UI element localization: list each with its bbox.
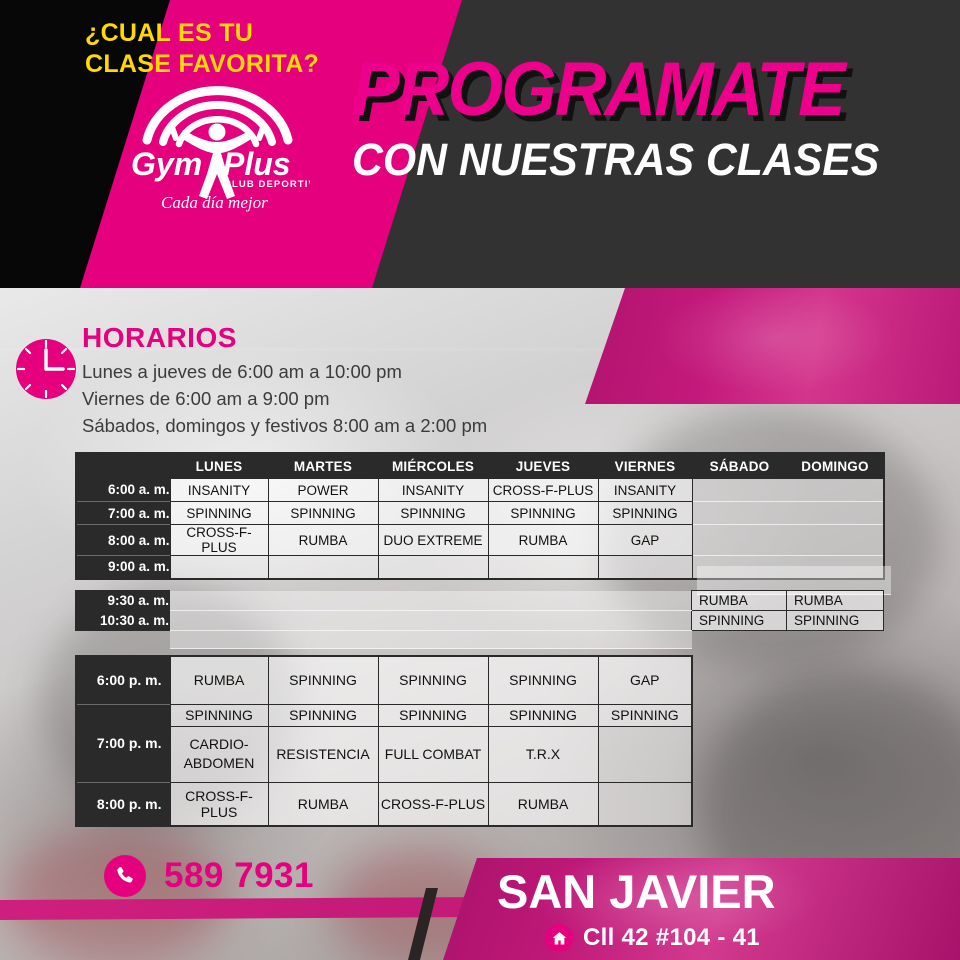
class-cell: RESISTENCIA [268, 726, 378, 782]
time-label: 8:00 a. m. [76, 525, 170, 556]
table-header-row: LUNES MARTES MIÉRCOLES JUEVES VIERNES SÁ… [76, 453, 884, 479]
class-cell: SPINNING [787, 611, 884, 631]
phone-icon [104, 855, 146, 897]
class-cell: POWER [268, 479, 378, 502]
class-cell-empty [598, 631, 692, 649]
class-cell [268, 556, 378, 579]
header-cell-miercoles: MIÉRCOLES [378, 453, 488, 479]
class-cell-empty [268, 591, 378, 611]
header-cell-time [76, 453, 170, 479]
class-cell: RUMBA [488, 782, 598, 826]
time-label: 6:00 p. m. [76, 656, 170, 704]
class-cell: FULL COMBAT [378, 726, 488, 782]
class-cell: RUMBA [170, 656, 268, 704]
horarios-line-2: Viernes de 6:00 am a 9:00 pm [82, 385, 602, 412]
favorite-class-banner [575, 288, 960, 404]
class-cell-empty [170, 631, 268, 649]
header-title-block: PROGRAMATE CON NUESTRAS CLASES [352, 55, 912, 182]
class-cell-empty [488, 611, 598, 631]
table-row: 10:30 a. m. SPINNING SPINNING [76, 611, 884, 631]
schedule-section: LUNES MARTES MIÉRCOLES JUEVES VIERNES SÁ… [75, 452, 893, 580]
table-row: 6:00 a. m. INSANITY POWER INSANITY CROSS… [76, 479, 884, 502]
class-cell [598, 782, 692, 826]
spacer-cell [76, 631, 170, 649]
class-cell: DUO EXTREME [378, 525, 488, 556]
time-label: 8:00 p. m. [76, 782, 170, 826]
schedule-table-evening: 6:00 p. m. RUMBA SPINNING SPINNING SPINN… [75, 655, 693, 827]
page-title: PROGRAMATE [352, 55, 878, 125]
time-label: 10:30 a. m. [76, 611, 170, 631]
class-cell-empty [378, 591, 488, 611]
class-cell [488, 556, 598, 579]
spacer-cell [787, 631, 884, 649]
time-label: 7:00 p. m. [76, 704, 170, 782]
svg-text:Gym: Gym [131, 146, 202, 182]
class-cell-empty [692, 525, 787, 556]
class-cell-empty [692, 502, 787, 525]
class-cell: CROSS-F-PLUS [170, 525, 268, 556]
horarios-line-3: Sábados, domingos y festivos 8:00 am a 2… [82, 412, 602, 439]
clock-icon [15, 338, 77, 400]
class-cell: SPINNING [378, 502, 488, 525]
header-cell-martes: MARTES [268, 453, 378, 479]
phone-number: 589 7931 [164, 856, 314, 896]
time-label: 9:00 a. m. [76, 556, 170, 579]
schedule-table-morning: LUNES MARTES MIÉRCOLES JUEVES VIERNES SÁ… [75, 452, 885, 580]
class-cell: T.R.X [488, 726, 598, 782]
home-icon [545, 924, 573, 952]
class-cell-empty [268, 611, 378, 631]
gym-plus-logo: Gym Plus CLUB DEPORTIVO Cada día mejor [125, 70, 310, 215]
class-cell: GAP [598, 525, 692, 556]
header-cell-domingo: DOMINGO [787, 453, 884, 479]
class-cell: RUMBA [268, 782, 378, 826]
class-cell: CROSS-F-PLUS [378, 782, 488, 826]
class-cell-empty [598, 591, 692, 611]
class-cell: SPINNING [488, 704, 598, 726]
header-cell-lunes: LUNES [170, 453, 268, 479]
class-cell [170, 556, 268, 579]
schedule-table-evening-wrap: 6:00 p. m. RUMBA SPINNING SPINNING SPINN… [75, 655, 693, 827]
svg-text:CLUB DEPORTIVO: CLUB DEPORTIVO [224, 179, 310, 190]
class-cell [378, 556, 488, 579]
table-row: 9:30 a. m. RUMBA RUMBA [76, 591, 884, 611]
class-cell-empty [378, 611, 488, 631]
class-cell: INSANITY [378, 479, 488, 502]
class-cell: SPINNING [598, 502, 692, 525]
svg-text:Cada día mejor: Cada día mejor [161, 193, 268, 212]
table-row: 8:00 p. m. CROSS-F-PLUS RUMBA CROSS-F-PL… [76, 782, 692, 826]
class-cell-empty [488, 631, 598, 649]
horarios-block: HORARIOS Lunes a jueves de 6:00 am a 10:… [82, 322, 602, 440]
class-cell: SPINNING [598, 704, 692, 726]
class-cell: SPINNING [268, 502, 378, 525]
class-cell: INSANITY [170, 479, 268, 502]
class-cell-empty [787, 525, 884, 556]
horarios-line-1: Lunes a jueves de 6:00 am a 10:00 pm [82, 358, 602, 385]
class-cell: RUMBA [268, 525, 378, 556]
class-cell: SPINNING [488, 502, 598, 525]
class-cell: RUMBA [787, 591, 884, 611]
time-label: 6:00 a. m. [76, 479, 170, 502]
class-cell-empty [170, 591, 268, 611]
favorite-banner-line-2: CLASE FAVORITA? [85, 49, 319, 80]
class-cell: SPINNING [170, 502, 268, 525]
table-row: 6:00 p. m. RUMBA SPINNING SPINNING SPINN… [76, 656, 692, 704]
class-cell: GAP [598, 656, 692, 704]
class-cell: SPINNING [268, 656, 378, 704]
location-address: Cll 42 #104 - 41 [583, 924, 760, 952]
table-row-spacer [76, 631, 884, 649]
page-subtitle: CON NUESTRAS CLASES [352, 137, 884, 182]
class-cell-empty [268, 631, 378, 649]
header-cell-jueves: JUEVES [488, 453, 598, 479]
spacer-cell [692, 631, 787, 649]
location-banner: SAN JAVIER Cll 42 #104 - 41 [425, 858, 960, 960]
class-cell-empty [598, 611, 692, 631]
poster-root: Gym Plus CLUB DEPORTIVO Cada día mejor P… [0, 0, 960, 960]
class-cell: CROSS-F-PLUS [488, 479, 598, 502]
class-cell: CARDIO-ABDOMEN [170, 726, 268, 782]
class-cell-empty [692, 479, 787, 502]
header-cell-sabado: SÁBADO [692, 453, 787, 479]
table-row: 7:00 p. m. SPINNING SPINNING SPINNING SP… [76, 704, 692, 726]
phone-block[interactable]: 589 7931 [104, 855, 314, 897]
class-cell: SPINNING [268, 704, 378, 726]
schedule-table-weekend: 9:30 a. m. RUMBA RUMBA 10:30 a. m. SPINN… [75, 590, 884, 649]
favorite-banner-line-1: ¿CUAL ES TU [85, 18, 319, 49]
header-cell-viernes: VIERNES [598, 453, 692, 479]
class-cell-empty [787, 479, 884, 502]
favorite-banner-text: ¿CUAL ES TU CLASE FAVORITA? [85, 18, 319, 81]
time-label: 9:30 a. m. [76, 591, 170, 611]
class-cell: CROSS-F-PLUS [170, 782, 268, 826]
class-cell-empty [488, 591, 598, 611]
class-cell-empty [378, 631, 488, 649]
class-cell: SPINNING [378, 704, 488, 726]
class-cell: SPINNING [488, 656, 598, 704]
class-cell: SPINNING [170, 704, 268, 726]
horarios-heading: HORARIOS [82, 322, 602, 354]
schedule-table-weekend-wrap: 9:30 a. m. RUMBA RUMBA 10:30 a. m. SPINN… [75, 590, 884, 649]
class-cell: RUMBA [692, 591, 787, 611]
class-cell-empty [787, 502, 884, 525]
class-cell: SPINNING [692, 611, 787, 631]
table-row: 7:00 a. m. SPINNING SPINNING SPINNING SP… [76, 502, 884, 525]
location-title: SAN JAVIER [497, 864, 776, 919]
class-cell: RUMBA [488, 525, 598, 556]
table-row: 8:00 a. m. CROSS-F-PLUS RUMBA DUO EXTREM… [76, 525, 884, 556]
location-address-row: Cll 42 #104 - 41 [545, 924, 760, 952]
svg-text:Plus: Plus [223, 146, 291, 182]
class-cell-empty [170, 611, 268, 631]
class-cell: INSANITY [598, 479, 692, 502]
class-cell [598, 726, 692, 782]
class-cell [598, 556, 692, 579]
class-cell: SPINNING [378, 656, 488, 704]
time-label: 7:00 a. m. [76, 502, 170, 525]
